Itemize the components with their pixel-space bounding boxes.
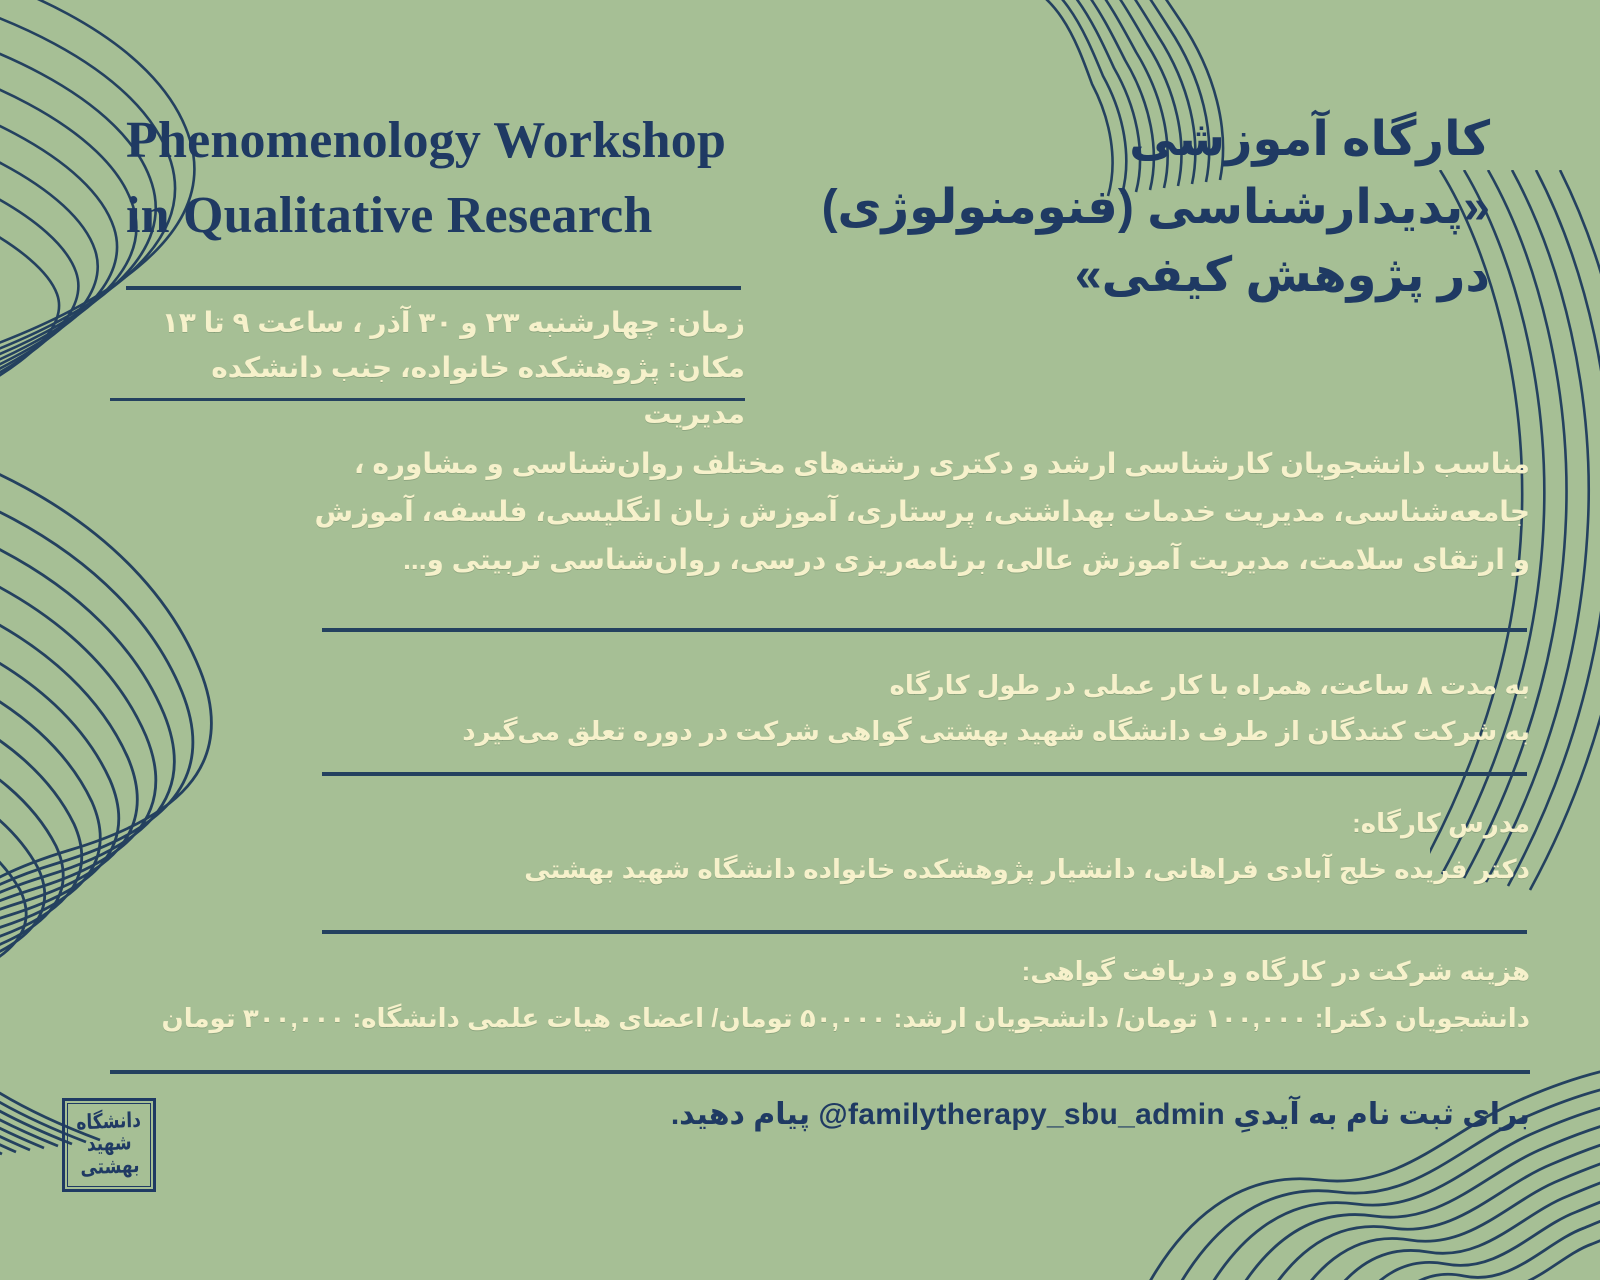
divider-above-fee	[322, 930, 1527, 934]
event-meta: زمان: چهارشنبه ۲۳ و ۳۰ آذر ، ساعت ۹ تا ۱…	[110, 300, 745, 436]
persian-title-line3: در پژوهش کیفی»	[690, 242, 1490, 310]
audience-paragraph: مناسب دانشجویان کارشناسی ارشد و دکتری رش…	[240, 440, 1530, 584]
fee-block: هزینه شرکت در کارگاه و دریافت گواهی: دان…	[110, 948, 1530, 1042]
instructor-name: دکتر فریده خلج آبادی فراهانی، دانشیار پژ…	[300, 846, 1530, 892]
instructor-block: مدرس کارگاه: دکتر فریده خلج آبادی فراهان…	[300, 800, 1530, 893]
duration-line: به مدت ۸ ساعت، همراه با کار عملی در طول …	[300, 662, 1530, 708]
logo-line3: بهشتی	[77, 1155, 142, 1180]
divider-under-english-title	[126, 286, 741, 290]
wave-decoration-bottom-right	[1120, 1050, 1600, 1280]
divider-under-place	[110, 398, 745, 401]
event-time: زمان: چهارشنبه ۲۳ و ۳۰ آذر ، ساعت ۹ تا ۱…	[110, 300, 745, 345]
audience-line3: و ارتقای سلامت، مدیریت آموزش عالی، برنام…	[240, 536, 1530, 584]
persian-title-line1: کارگاه آموزشی	[690, 106, 1490, 174]
divider-above-duration	[322, 628, 1527, 632]
duration-block: به مدت ۸ ساعت، همراه با کار عملی در طول …	[300, 662, 1530, 755]
university-logo: دانشگاه شهید بهشتی	[62, 1098, 156, 1192]
persian-title: کارگاه آموزشی «پدیدارشناسی (فنومنولوژی) …	[690, 106, 1490, 310]
logo-calligraphy: دانشگاه شهید بهشتی	[76, 1110, 142, 1180]
poster-canvas: Phenomenology Workshop in Qualitative Re…	[0, 0, 1600, 1280]
english-title-line1: Phenomenology Workshop	[126, 112, 726, 169]
divider-above-instructor	[322, 772, 1527, 776]
divider-above-registration	[110, 1070, 1530, 1074]
registration-prefix: برای ثبت نام به آیدیِ	[1233, 1098, 1530, 1131]
persian-title-line2: «پدیدارشناسی (فنومنولوژی)	[690, 174, 1490, 242]
certificate-line: به شرکت کنندگان از طرف دانشگاه شهید بهشت…	[300, 708, 1530, 754]
logo-inner-border: دانشگاه شهید بهشتی	[67, 1103, 151, 1187]
registration-suffix: پیام دهید.	[671, 1098, 810, 1131]
audience-line2: جامعه‌شناسی، مدیریت خدمات بهداشتی، پرستا…	[240, 488, 1530, 536]
event-place: مکان: پژوهشکده خانواده، جنب دانشکده مدیر…	[110, 345, 745, 436]
fee-details: دانشجویان دکترا: ۱۰۰,۰۰۰ تومان/ دانشجویا…	[110, 995, 1530, 1042]
instagram-handle[interactable]: @familytherapy_sbu_admin	[818, 1092, 1225, 1139]
registration-line: برای ثبت نام به آیدیِ @familytherapy_sbu…	[200, 1092, 1530, 1139]
audience-line1: مناسب دانشجویان کارشناسی ارشد و دکتری رش…	[240, 440, 1530, 488]
fee-label: هزینه شرکت در کارگاه و دریافت گواهی:	[110, 948, 1530, 995]
instructor-label: مدرس کارگاه:	[300, 800, 1530, 846]
